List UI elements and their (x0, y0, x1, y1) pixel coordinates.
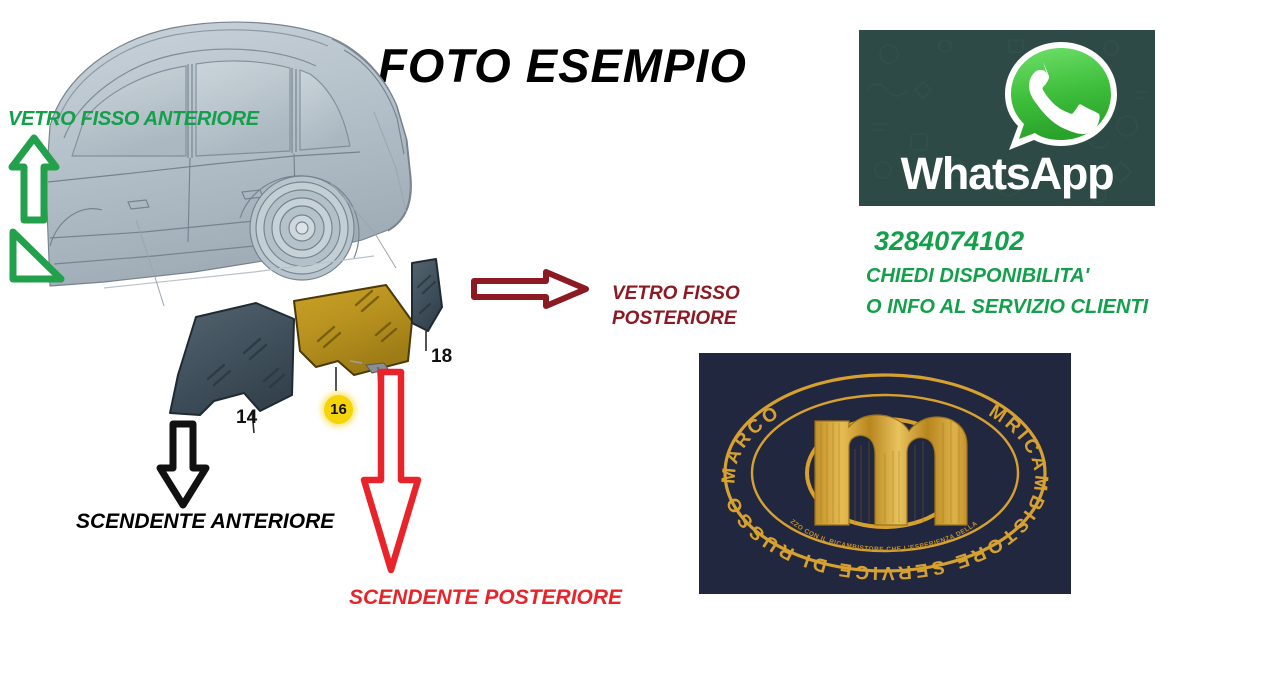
shop-logo: MRICAMBISTORE SERVICE DI RUSSO MARCO IL … (699, 353, 1071, 594)
right-triangle-icon (8, 228, 66, 289)
contact-line-1: CHIEDI DISPONIBILITA' (866, 265, 1089, 288)
logo-monogram (815, 415, 967, 525)
poster-canvas: FOTO ESEMPIO (0, 0, 1264, 678)
contact-line-2: O INFO AL SERVIZIO CLIENTI (866, 296, 1148, 319)
label-rear-fixed-glass: VETRO FISSO POSTERIORE (612, 281, 740, 331)
down-arrow-icon (155, 420, 211, 515)
part-number-18: 18 (431, 346, 452, 368)
label-front-drop-glass: SCENDENTE ANTERIORE (76, 510, 334, 534)
whatsapp-banner: WhatsApp (859, 30, 1155, 206)
label-rear-fixed-glass-line1: VETRO FISSO (612, 281, 740, 306)
label-rear-drop-glass: SCENDENTE POSTERIORE (349, 586, 622, 610)
label-rear-fixed-glass-line2: POSTERIORE (612, 306, 740, 331)
phone-number[interactable]: 3284074102 (874, 226, 1024, 257)
down-arrow-long-icon (355, 368, 425, 581)
part-number-16-badge: 16 (324, 395, 353, 424)
whatsapp-phone-bubble-icon (1001, 38, 1121, 165)
part-number-14: 14 (236, 407, 257, 429)
right-arrow-icon (470, 268, 590, 315)
up-arrow-icon (8, 134, 60, 231)
part-number-16: 16 (330, 401, 347, 418)
whatsapp-wordmark: WhatsApp (859, 148, 1155, 200)
label-front-fixed-glass: VETRO FISSO ANTERIORE (8, 108, 259, 131)
